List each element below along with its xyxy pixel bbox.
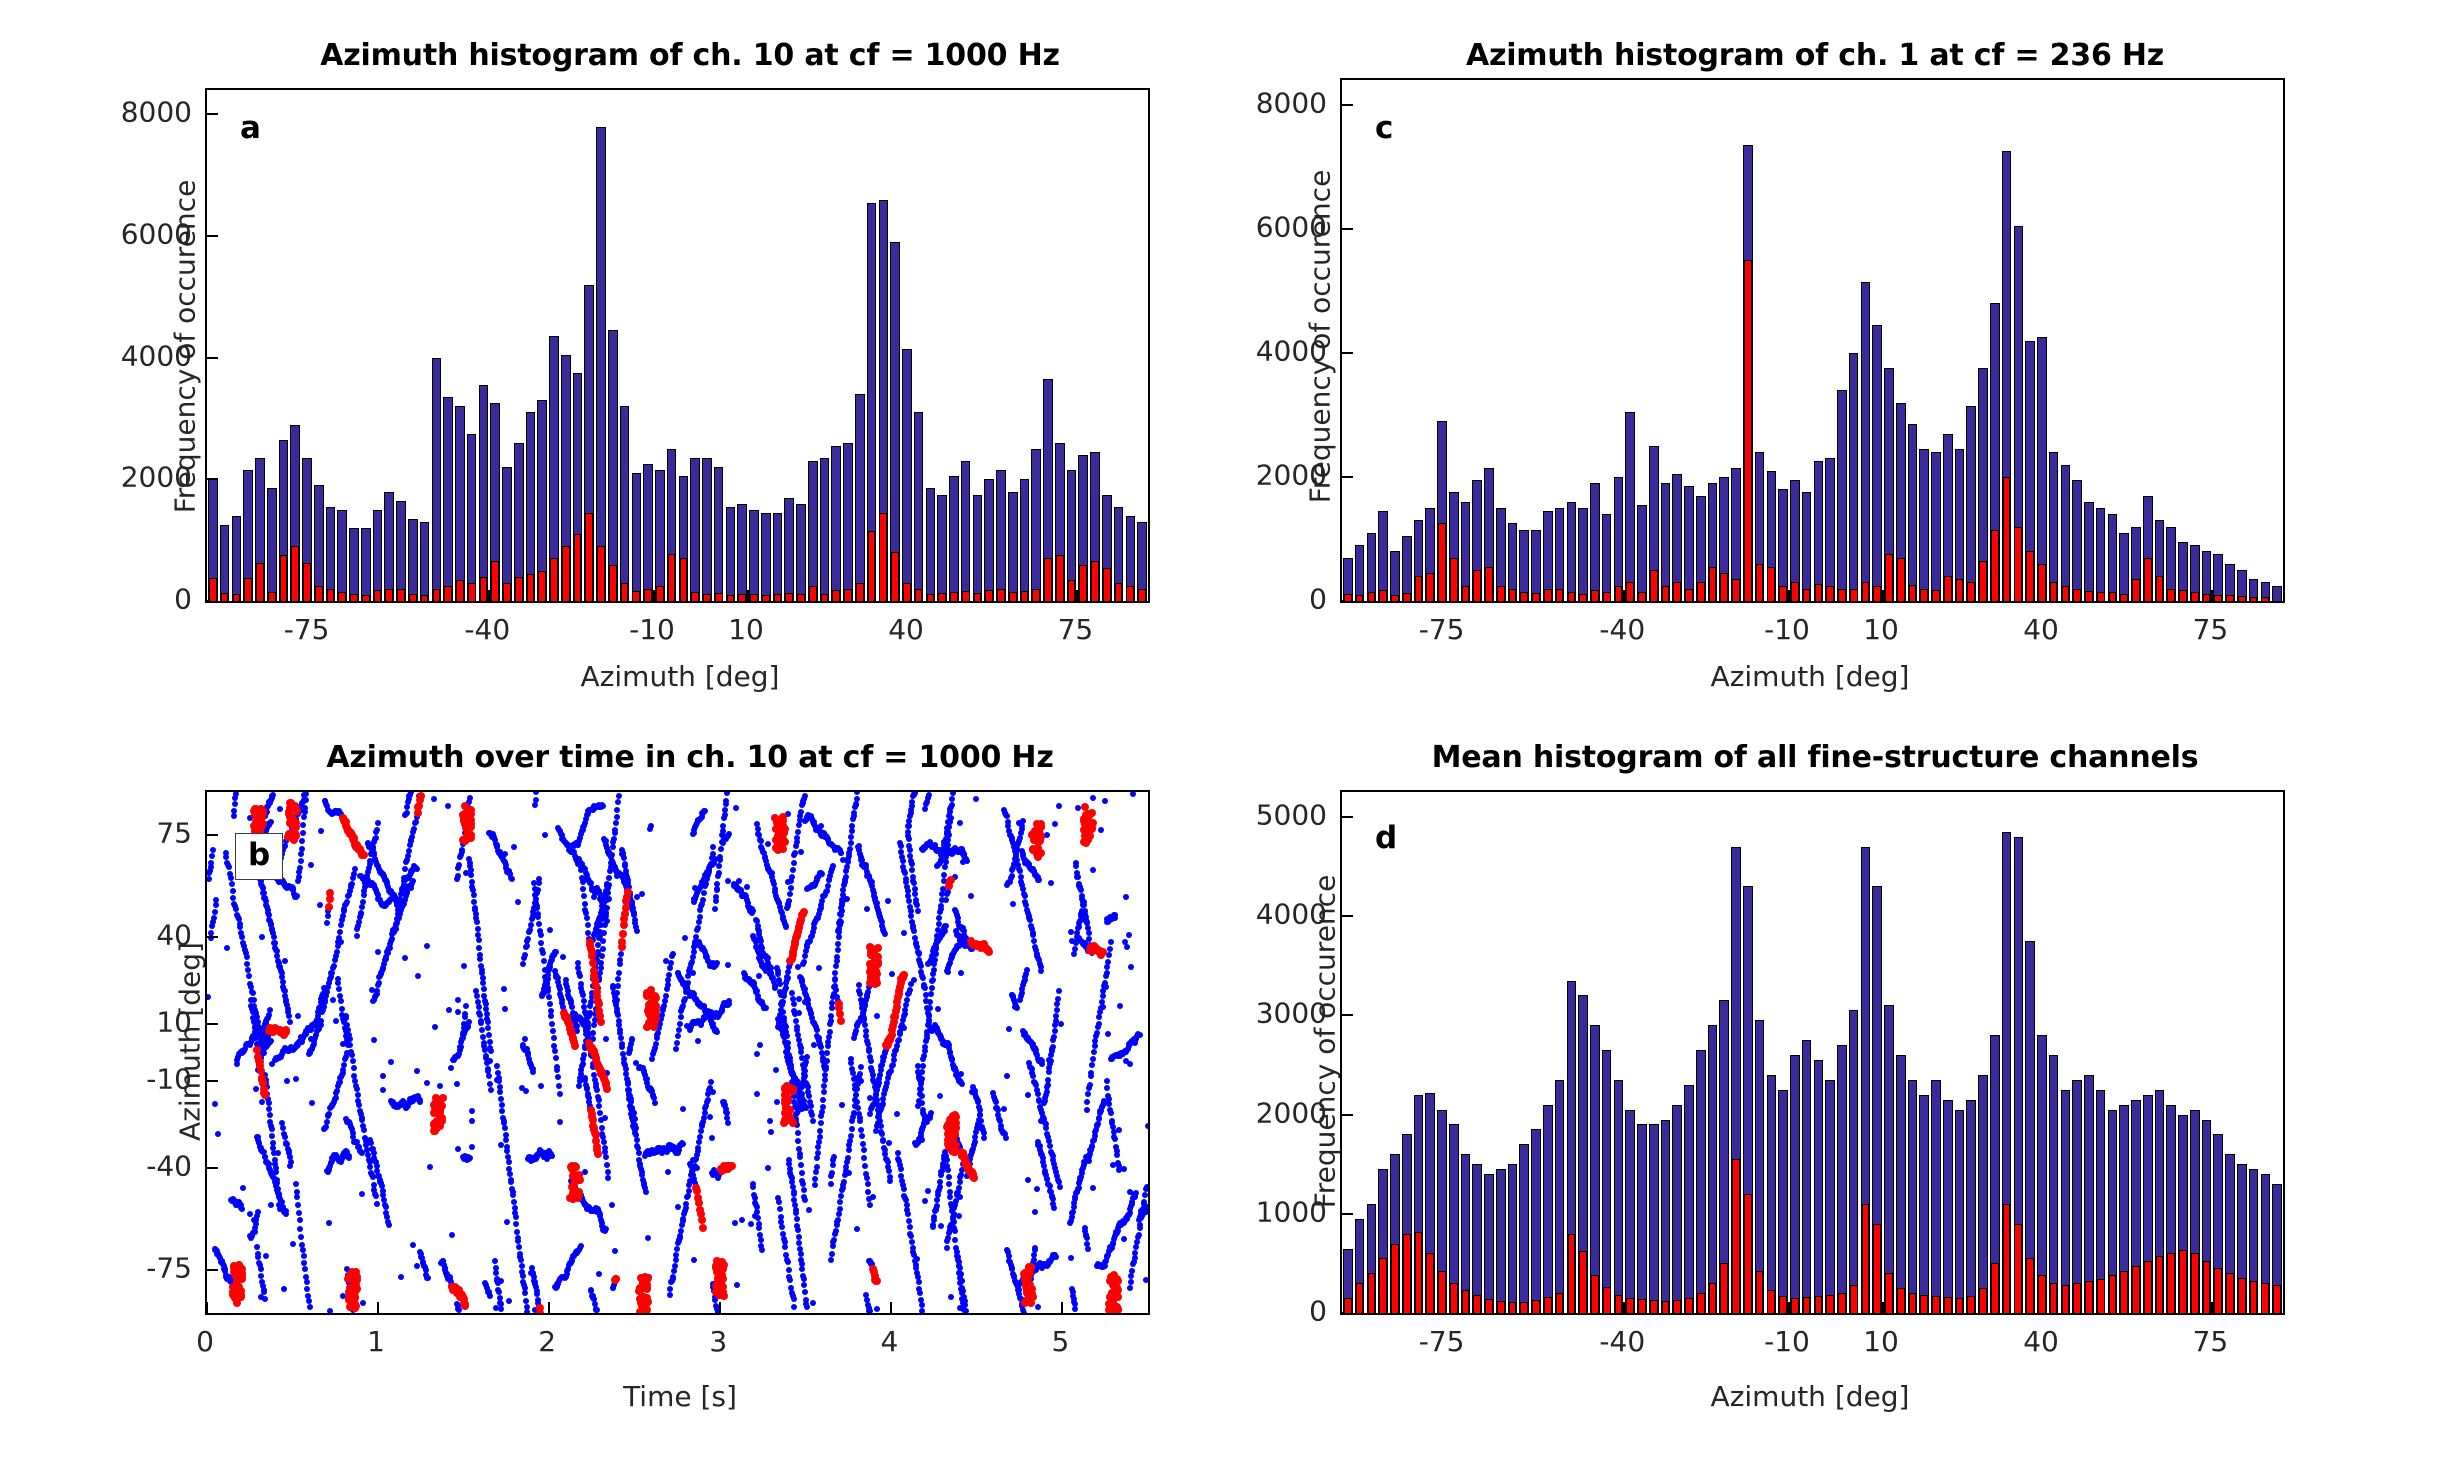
histogram-bar-onset: [1720, 573, 1728, 601]
histogram-bar-onset: [1756, 564, 1764, 601]
scatter-point-azimuth: [824, 1058, 830, 1064]
scatter-point-azimuth: [798, 1162, 804, 1168]
scatter-point-azimuth: [338, 922, 344, 928]
scatter-point-azimuth: [777, 981, 783, 987]
scatter-point-azimuth: [795, 1138, 801, 1144]
scatter-point-azimuth: [476, 1004, 482, 1010]
scatter-point-azimuth: [303, 797, 309, 803]
histogram-bar-total: [961, 461, 971, 601]
scatter-point-azimuth: [508, 1179, 514, 1185]
histogram-bar-onset: [750, 594, 758, 601]
scatter-point-azimuth: [334, 949, 340, 955]
scatter-point-azimuth: [858, 1127, 864, 1133]
histogram-bar-onset: [1697, 582, 1705, 601]
scatter-point-onset: [900, 971, 908, 979]
scatter-point-azimuth: [799, 1170, 805, 1176]
scatter-point-azimuth: [246, 973, 252, 979]
scatter-point-azimuth: [714, 960, 720, 966]
scatter-point-azimuth: [906, 836, 912, 842]
scatter-point-azimuth: [785, 1259, 791, 1265]
histogram-bar-total: [761, 513, 771, 601]
histogram-bar-total: [420, 522, 430, 601]
histogram-bar-onset: [385, 589, 393, 601]
x-axis-tick-label: -75: [1419, 613, 1465, 646]
histogram-bar-onset: [950, 592, 958, 601]
scatter-point-azimuth: [928, 1110, 934, 1116]
x-axis-tick-label: -40: [464, 613, 510, 646]
scatter-point-azimuth: [854, 1086, 860, 1092]
scatter-point-azimuth: [662, 998, 668, 1004]
histogram-bar-onset: [2109, 592, 2117, 601]
scatter-point-azimuth: [759, 1247, 765, 1253]
histogram-bar-onset: [668, 554, 676, 601]
scatter-point-azimuth: [708, 861, 714, 867]
scatter-point-azimuth: [801, 1282, 807, 1288]
scatter-point-azimuth: [616, 793, 622, 799]
scatter-point-azimuth: [802, 793, 808, 799]
scatter-point-azimuth: [351, 1065, 357, 1071]
scatter-point-azimuth: [671, 1268, 677, 1274]
histogram-bar-onset: [2191, 592, 2199, 601]
histogram-bar-total: [726, 507, 736, 601]
x-axis-tick-label: -75: [284, 613, 330, 646]
scatter-point-azimuth: [294, 893, 300, 899]
histogram-bar-onset: [303, 563, 311, 601]
panel-b: Azimuth over time in ch. 10 at cf = 1000…: [150, 730, 1230, 1410]
panel-c: Azimuth histogram of ch. 1 at cf = 236 H…: [1250, 30, 2380, 700]
histogram-bar-onset: [468, 583, 476, 601]
scatter-point-azimuth: [789, 990, 795, 996]
scatter-point-azimuth: [467, 1155, 473, 1161]
histogram-bar-total: [396, 501, 406, 601]
scatter-point-azimuth: [1003, 1135, 1009, 1141]
scatter-point-azimuth: [907, 1224, 913, 1230]
scatter-point-azimuth: [298, 1234, 304, 1240]
scatter-point-azimuth: [860, 1141, 866, 1147]
scatter-point-azimuth: [477, 1012, 483, 1018]
histogram-bar-total: [1684, 486, 1694, 601]
scatter-point-azimuth: [952, 1237, 958, 1243]
scatter-point-azimuth: [1144, 1184, 1150, 1190]
histogram-bar-onset: [632, 591, 640, 601]
histogram-bar-onset: [1767, 567, 1775, 601]
scatter-point-azimuth: [856, 982, 862, 988]
histogram-bar-onset: [621, 583, 629, 601]
histogram-bar-onset: [927, 594, 935, 601]
scatter-point-azimuth: [917, 1290, 923, 1296]
scatter-point-azimuth: [343, 1015, 349, 1021]
histogram-bar-total: [1802, 492, 1812, 601]
scatter-point-azimuth: [1072, 1306, 1078, 1312]
y-axis-tick: [207, 113, 218, 115]
histogram-bar-onset: [903, 583, 911, 601]
histogram-bar-onset: [1732, 579, 1740, 601]
scatter-point-azimuth: [1071, 951, 1077, 957]
scatter-point-azimuth: [359, 1117, 365, 1123]
scatter-point-azimuth: [851, 810, 857, 816]
histogram-bar-total: [1908, 424, 1918, 601]
histogram-bar-onset: [209, 578, 217, 601]
panel-a: Azimuth histogram of ch. 10 at cf = 1000…: [150, 30, 1230, 700]
scatter-point-azimuth: [898, 843, 904, 849]
scatter-point-azimuth: [402, 875, 408, 881]
scatter-point-azimuth: [340, 913, 346, 919]
histogram-bar-onset: [879, 513, 887, 601]
histogram-bar-onset: [2073, 589, 2081, 601]
panel-a-plot-area[interactable]: [205, 88, 1150, 603]
scatter-point-azimuth: [1014, 1005, 1020, 1011]
histogram-bar-onset: [527, 574, 535, 601]
scatter-point-azimuth: [643, 1189, 649, 1195]
histogram-bar-total: [937, 495, 947, 601]
scatter-point-azimuth: [861, 1147, 867, 1153]
histogram-bar-total: [1567, 502, 1577, 601]
scatter-point-azimuth: [725, 1120, 731, 1126]
scatter-point-azimuth: [667, 1286, 673, 1292]
scatter-point-azimuth: [714, 1029, 720, 1035]
scatter-point-azimuth: [819, 871, 825, 877]
scatter-point-azimuth: [374, 827, 380, 833]
scatter-point-onset: [360, 851, 368, 859]
scatter-point-azimuth: [549, 1153, 555, 1159]
histogram-bar-onset: [727, 595, 735, 601]
scatter-point-azimuth: [900, 858, 906, 864]
scatter-point-azimuth: [301, 1253, 307, 1259]
scatter-point-azimuth: [466, 1019, 472, 1025]
scatter-point-azimuth: [676, 1027, 682, 1033]
scatter-point-azimuth: [354, 1086, 360, 1092]
histogram-bar-onset: [2097, 592, 2105, 601]
histogram-bar-onset: [974, 593, 982, 601]
scatter-point-azimuth: [532, 802, 538, 808]
histogram-bar-total: [773, 513, 783, 601]
scatter-point-azimuth: [1031, 938, 1037, 944]
scatter-point-onset: [728, 1162, 736, 1170]
histogram-bar-onset: [1426, 573, 1434, 601]
histogram-bar-onset: [2261, 597, 2269, 601]
histogram-bar-onset: [2167, 589, 2175, 601]
scatter-point-azimuth: [1133, 1244, 1139, 1250]
scatter-point-azimuth: [209, 853, 215, 859]
scatter-point-azimuth: [1112, 1136, 1118, 1142]
scatter-point-azimuth: [287, 1019, 293, 1025]
scatter-point-azimuth: [359, 1150, 365, 1156]
histogram-bar-total: [1955, 449, 1965, 601]
panel-c-title: Azimuth histogram of ch. 1 at cf = 236 H…: [1250, 38, 2380, 73]
histogram-bar-onset: [2203, 594, 2211, 601]
scatter-point-azimuth: [798, 1251, 804, 1257]
scatter-point-azimuth: [463, 1003, 469, 1009]
scatter-point-azimuth: [1132, 1250, 1138, 1256]
histogram-bar-total: [1008, 492, 1018, 602]
scatter-point-azimuth: [1036, 877, 1042, 883]
scatter-point-azimuth: [212, 909, 218, 915]
scatter-point-azimuth: [678, 1014, 684, 1020]
histogram-bar-onset: [762, 595, 770, 601]
scatter-point-azimuth: [210, 847, 216, 853]
scatter-point-azimuth: [302, 805, 308, 811]
scatter-point-azimuth: [487, 1293, 493, 1299]
scatter-point-azimuth: [324, 920, 330, 926]
histogram-bar-total: [1778, 489, 1788, 601]
scatter-point-azimuth: [937, 1179, 943, 1185]
scatter-point-azimuth: [1107, 946, 1113, 952]
scatter-point-azimuth: [250, 990, 256, 996]
scatter-point-azimuth: [1087, 1082, 1093, 1088]
scatter-point-azimuth: [882, 931, 888, 937]
histogram-bar-onset: [997, 589, 1005, 601]
scatter-point-azimuth: [598, 965, 604, 971]
scatter-point-azimuth: [674, 1246, 680, 1252]
scatter-point-azimuth: [268, 819, 274, 825]
histogram-bar-total: [361, 528, 371, 601]
histogram-bar-onset: [2179, 590, 2187, 601]
x-axis-tick-label: 75: [1058, 613, 1094, 646]
scatter-point-azimuth: [700, 897, 706, 903]
scatter-point-azimuth: [802, 1197, 808, 1203]
histogram-bar-total: [408, 519, 418, 601]
histogram-bar-onset: [1685, 589, 1693, 601]
scatter-point-azimuth: [668, 960, 674, 966]
scatter-point-azimuth: [831, 1237, 837, 1243]
histogram-bar-total: [2108, 514, 2118, 601]
panel-c-plot-area[interactable]: [1340, 78, 2285, 603]
scatter-point-azimuth: [828, 1181, 834, 1187]
scatter-point-azimuth: [239, 1206, 245, 1212]
histogram-bar-total: [973, 495, 983, 601]
histogram-bar-total: [914, 412, 924, 601]
histogram-bar-onset: [538, 571, 546, 601]
y-axis-tick-label: 8000: [80, 96, 192, 129]
scatter-point-azimuth: [237, 924, 243, 930]
scatter-point-azimuth: [918, 963, 924, 969]
histogram-bar-total: [1872, 325, 1882, 601]
panel-a-letter: a: [240, 110, 261, 146]
scatter-point-onset: [619, 930, 627, 938]
scatter-point-azimuth: [1057, 1184, 1063, 1190]
scatter-point-azimuth: [522, 952, 528, 958]
histogram-bar-onset: [1391, 595, 1399, 601]
scatter-point-azimuth: [1056, 988, 1062, 994]
histogram-bar-total: [855, 394, 865, 601]
histogram-bar-onset: [2026, 551, 2034, 601]
scatter-point-azimuth: [1054, 1001, 1060, 1007]
scatter-point-azimuth: [533, 790, 539, 795]
scatter-point-azimuth: [926, 792, 932, 798]
scatter-point-azimuth: [852, 1103, 858, 1109]
scatter-point-azimuth: [307, 1304, 313, 1310]
scatter-point-azimuth: [914, 902, 920, 908]
histogram-bar-onset: [1626, 582, 1634, 601]
scatter-point-azimuth: [1024, 967, 1030, 973]
scatter-point-azimuth: [481, 986, 487, 992]
scatter-point-azimuth: [909, 867, 915, 873]
figure-canvas: Azimuth histogram of ch. 10 at cf = 1000…: [0, 0, 2438, 1458]
scatter-point-azimuth: [848, 834, 854, 840]
histogram-bar-onset: [2226, 595, 2234, 601]
histogram-bar-total: [655, 470, 665, 601]
scatter-point-azimuth: [513, 1214, 519, 1220]
scatter-point-azimuth: [705, 1097, 711, 1103]
scatter-point-azimuth: [1090, 1056, 1096, 1062]
histogram-bar-onset: [1021, 591, 1029, 601]
histogram-bar-onset: [1815, 584, 1823, 601]
scatter-point-azimuth: [606, 875, 612, 881]
scatter-point-azimuth: [667, 1292, 673, 1298]
scatter-point-azimuth: [685, 980, 691, 986]
scatter-point-azimuth: [795, 1227, 801, 1233]
histogram-bar-onset: [2120, 594, 2128, 601]
histogram-bar-onset: [1126, 586, 1134, 601]
scatter-point-azimuth: [804, 1304, 810, 1310]
scatter-point-azimuth: [798, 809, 804, 815]
panel-b-plot-area[interactable]: [205, 790, 1150, 1315]
scatter-point-azimuth: [821, 1083, 827, 1089]
scatter-point-azimuth: [783, 924, 789, 930]
scatter-point-azimuth: [587, 1010, 593, 1016]
scatter-point-azimuth: [750, 1184, 756, 1190]
histogram-bar-onset: [1009, 592, 1017, 601]
histogram-bar-onset: [1473, 570, 1481, 601]
scatter-point-azimuth: [376, 980, 382, 986]
scatter-point-azimuth: [244, 954, 250, 960]
histogram-bar-total: [926, 488, 936, 601]
scatter-point-azimuth: [802, 953, 808, 959]
scatter-point-azimuth: [351, 871, 357, 877]
histogram-bar-onset: [491, 561, 499, 601]
histogram-bar-onset: [715, 593, 723, 601]
scatter-point-azimuth: [304, 1286, 310, 1292]
histogram-bar-total: [1578, 508, 1588, 601]
scatter-point-azimuth: [786, 1267, 792, 1273]
scatter-point-azimuth: [1094, 1030, 1100, 1036]
scatter-point-azimuth: [605, 1175, 611, 1181]
scatter-point-azimuth: [716, 863, 722, 869]
histogram-bar-onset: [562, 546, 570, 601]
histogram-bar-onset: [291, 546, 299, 601]
scatter-point-azimuth: [306, 1298, 312, 1304]
scatter-point-azimuth: [820, 1097, 826, 1103]
scatter-point-azimuth: [1027, 917, 1033, 923]
y-axis-tick: [207, 357, 218, 359]
x-axis-tick-label: 75: [2193, 613, 2229, 646]
histogram-bar-total: [1966, 406, 1976, 601]
scatter-point-azimuth: [834, 954, 840, 960]
histogram-bar-onset: [1673, 582, 1681, 601]
histogram-bar-total: [1020, 479, 1030, 601]
scatter-point-azimuth: [300, 822, 306, 828]
scatter-point-azimuth: [515, 1238, 521, 1244]
y-axis-tick: [207, 235, 218, 237]
scatter-point-azimuth: [326, 1111, 332, 1117]
scatter-point-azimuth: [417, 1099, 423, 1105]
scatter-point-azimuth: [846, 1147, 852, 1153]
scatter-point-azimuth: [845, 1155, 851, 1161]
scatter-point-azimuth: [815, 1150, 821, 1156]
x-axis-tick-label: -10: [1764, 613, 1810, 646]
histogram-bar-onset: [844, 589, 852, 601]
scatter-point-onset: [624, 888, 632, 896]
scatter-point-azimuth: [801, 1187, 807, 1193]
scatter-point-azimuth: [673, 1252, 679, 1258]
scatter-point-azimuth: [615, 799, 621, 805]
histogram-bar-onset: [797, 594, 805, 601]
histogram-bar-onset: [1885, 554, 1893, 601]
y-axis-tick-label: 4000: [80, 339, 192, 372]
histogram-bar-onset: [1956, 579, 1964, 601]
histogram-bar-onset: [374, 590, 382, 601]
scatter-point-azimuth: [503, 1137, 509, 1143]
histogram-bar-onset: [1873, 586, 1881, 602]
scatter-point-azimuth: [352, 866, 358, 872]
histogram-bar-onset: [938, 593, 946, 601]
histogram-bar-total: [2084, 502, 2094, 601]
histogram-bar-onset: [1803, 589, 1811, 601]
scatter-point-azimuth: [677, 1021, 683, 1027]
scatter-point-azimuth: [581, 998, 587, 1004]
scatter-point-azimuth: [835, 947, 841, 953]
scatter-point-azimuth: [233, 791, 239, 797]
scatter-point-onset: [326, 889, 334, 897]
scatter-point-azimuth: [514, 1229, 520, 1235]
scatter-point-azimuth: [795, 1130, 801, 1136]
scatter-point-azimuth: [1055, 996, 1061, 1002]
histogram-bar-onset: [1838, 589, 1846, 601]
histogram-bar-total: [1637, 505, 1647, 601]
histogram-bar-onset: [680, 558, 688, 601]
scatter-point-azimuth: [213, 897, 219, 903]
scatter-point-azimuth: [350, 1058, 356, 1064]
histogram-bar-total: [443, 397, 453, 601]
scatter-point-azimuth: [274, 1180, 280, 1186]
scatter-point-azimuth: [778, 1007, 784, 1013]
histogram-bar-onset: [1403, 593, 1411, 601]
scatter-point-azimuth: [370, 1174, 376, 1180]
scatter-point-azimuth: [959, 1081, 965, 1087]
scatter-point-onset: [594, 1150, 602, 1158]
scatter-point-azimuth: [868, 1058, 874, 1064]
scatter-point-azimuth: [1127, 1285, 1133, 1291]
scatter-point-azimuth: [1086, 936, 1092, 942]
scatter-point-azimuth: [695, 925, 701, 931]
histogram-bar-total: [984, 479, 994, 601]
scatter-point-azimuth: [680, 1141, 686, 1147]
scatter-point-azimuth: [604, 1162, 610, 1168]
scatter-point-azimuth: [533, 797, 539, 803]
scatter-point-azimuth: [682, 996, 688, 1002]
scatter-point-azimuth: [520, 961, 526, 967]
scatter-point-azimuth: [576, 1083, 582, 1089]
scatter-point-azimuth: [829, 1251, 835, 1257]
histogram-bar-total: [843, 443, 853, 601]
scatter-point-azimuth: [1104, 970, 1110, 976]
scatter-point-azimuth: [862, 1022, 868, 1028]
scatter-point-azimuth: [1045, 1077, 1051, 1083]
scatter-point-azimuth: [634, 928, 640, 934]
y-axis-tick-label: 0: [1215, 583, 1327, 616]
histogram-bar-total: [1378, 511, 1388, 601]
scatter-point-azimuth: [498, 1306, 504, 1312]
scatter-point-azimuth: [847, 846, 853, 852]
scatter-point-azimuth: [827, 1029, 833, 1035]
scatter-point-azimuth: [388, 896, 394, 902]
histogram-bar-total: [749, 510, 759, 601]
scatter-point-azimuth: [331, 963, 337, 969]
scatter-point-azimuth: [793, 1018, 799, 1024]
scatter-point-azimuth: [1142, 1192, 1148, 1198]
scatter-point-azimuth: [229, 881, 235, 887]
scatter-point-azimuth: [841, 1179, 847, 1185]
